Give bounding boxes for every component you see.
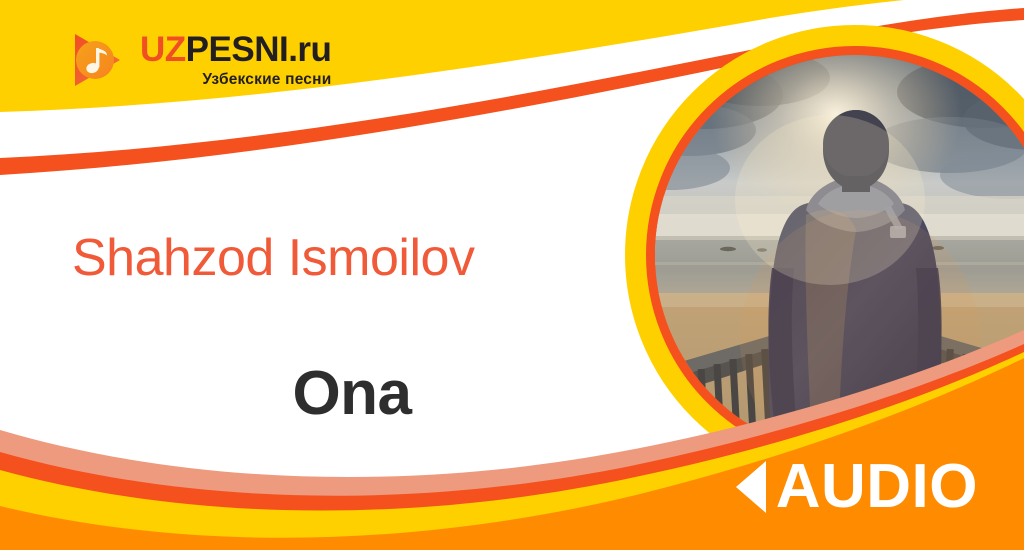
play-triangle-left-icon [736,461,766,513]
play-music-note-icon [66,27,132,93]
artist-name: Shahzod Ismoilov [72,228,632,288]
logo-tagline: Узбекские песни [140,72,331,88]
logo-wordmark: UZPESNI.ru [140,32,331,67]
audio-track-card: UZPESNI.ru Узбекские песни Shahzod Ismoi… [0,0,1024,550]
audio-badge-label: AUDIO [776,456,978,518]
audio-badge[interactable]: AUDIO [736,456,978,518]
logo-text: UZPESNI.ru Узбекские песни [140,32,331,88]
song-title: Ona [72,358,632,429]
logo-wordmark-uz: UZ [140,30,186,69]
logo-wordmark-pesni: PESNI.ru [186,30,332,69]
site-logo[interactable]: UZPESNI.ru Узбекские песни [66,24,366,96]
